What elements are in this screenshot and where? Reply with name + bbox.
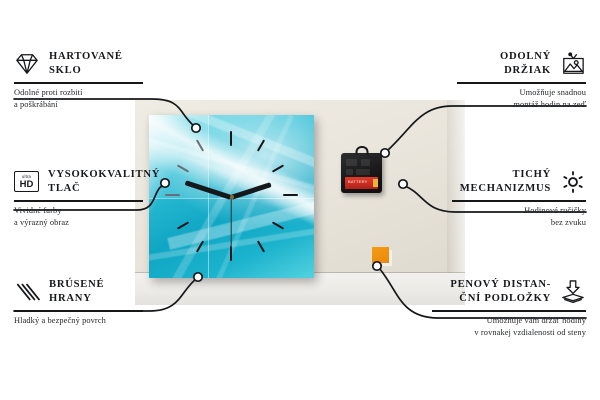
title-line: HRANY xyxy=(49,292,104,306)
feature-rule xyxy=(432,310,586,312)
feature-description: Odolné proti rozbití a poškrábání xyxy=(14,87,159,111)
feature-title: BRÚSENÉ HRANY xyxy=(49,278,104,306)
feature-rule xyxy=(457,82,586,84)
feature-title: TICHÝ MECHANIZMUS xyxy=(460,168,551,196)
diamond-icon xyxy=(14,52,40,76)
feature-ground-edges: BRÚSENÉ HRANY Hladký a bezpečný povrch xyxy=(14,278,164,327)
feature-description: Hladký a bezpečný povrch xyxy=(14,315,164,327)
feature-description: Umožňuje snadnou montáž hodin na zeď xyxy=(441,87,586,111)
feature-silent-mechanism: TICHÝ MECHANIZMUS Hodinové ručičky bez z… xyxy=(436,168,586,229)
desc-line: Vividné farby xyxy=(14,205,164,217)
feature-header: ultra HD VYSOKOKVALITNÝ TLAČ xyxy=(14,168,164,196)
desc-line: a výrazný obraz xyxy=(14,217,164,229)
title-line: SKLO xyxy=(49,64,123,78)
wall-clock xyxy=(149,115,314,278)
title-line: MECHANIZMUS xyxy=(460,182,551,196)
title-line: ODOLNÝ xyxy=(500,50,551,64)
feature-title: VYSOKOKVALITNÝ TLAČ xyxy=(48,168,160,196)
infographic-root: BATTERY xyxy=(0,0,600,400)
ground-edges-icon xyxy=(14,280,40,304)
desc-line: montáž hodin na zeď xyxy=(441,99,586,111)
desc-line: Umožňuje snadnou xyxy=(441,87,586,99)
feature-description: Vividné farby a výrazný obraz xyxy=(14,205,164,229)
title-line: TICHÝ xyxy=(460,168,551,182)
feature-rule xyxy=(14,310,143,312)
title-line: BRÚSENÉ xyxy=(49,278,104,292)
title-line: ČNÍ PODLOŽKY xyxy=(450,292,551,306)
clock-mark-8 xyxy=(177,221,189,229)
feature-header: ODOLNÝ DRŽIAK xyxy=(441,50,586,78)
press-down-icon xyxy=(560,280,586,304)
clock-center-pivot xyxy=(230,195,234,199)
feature-header: PENOVÝ DISTAN- ČNÍ PODLOŽKY xyxy=(416,278,586,306)
gear-icon xyxy=(560,170,586,194)
clock-mechanism: BATTERY xyxy=(341,153,382,193)
feature-high-quality-print: ultra HD VYSOKOKVALITNÝ TLAČ Vividné far… xyxy=(14,168,164,229)
title-line: DRŽIAK xyxy=(500,64,551,78)
ultra-hd-icon: ultra HD xyxy=(14,171,39,192)
desc-line: Umožňuje vám držať hodiny xyxy=(416,315,586,327)
desc-line: Hladký a bezpečný povrch xyxy=(14,315,164,327)
feature-tempered-glass: HARTOVANÉ SKLO Odolné proti rozbití a po… xyxy=(14,50,159,111)
product-scene: BATTERY xyxy=(135,100,465,305)
glass-reflection-line xyxy=(208,115,209,278)
feature-title: PENOVÝ DISTAN- ČNÍ PODLOŽKY xyxy=(450,278,551,306)
picture-hanger-icon xyxy=(560,52,586,76)
feature-rule xyxy=(14,200,143,202)
title-line: TLAČ xyxy=(48,182,160,196)
battery: BATTERY xyxy=(345,177,378,189)
desc-line: Odolné proti rozbití xyxy=(14,87,159,99)
feature-rule xyxy=(452,200,586,202)
feature-header: BRÚSENÉ HRANY xyxy=(14,278,164,306)
second-hand xyxy=(230,197,231,249)
ultra-hd-large-text: HD xyxy=(20,180,34,190)
desc-line: v rovnakej vzdialenosti od steny xyxy=(416,327,586,339)
feature-description: Umožňuje vám držať hodiny v rovnakej vzd… xyxy=(416,315,586,339)
clock-mark-2 xyxy=(272,164,284,172)
feature-rule xyxy=(14,82,143,84)
clock-mark-12 xyxy=(230,131,232,146)
feature-title: HARTOVANÉ SKLO xyxy=(49,50,123,78)
title-line: PENOVÝ DISTAN- xyxy=(450,278,551,292)
mechanism-hanger-hook xyxy=(355,146,368,155)
mechanism-detail xyxy=(346,159,357,166)
foam-distance-pad xyxy=(372,247,389,263)
desc-line: bez zvuku xyxy=(436,217,586,229)
feature-header: HARTOVANÉ SKLO xyxy=(14,50,159,78)
desc-line: Hodinové ručičky xyxy=(436,205,586,217)
mechanism-detail xyxy=(356,169,370,175)
clock-mark-9 xyxy=(165,194,180,196)
feature-durable-hanger: ODOLNÝ DRŽIAK Umožňuje snadnou montáž ho… xyxy=(441,50,586,111)
desc-line: a poškrábání xyxy=(14,99,159,111)
battery-label: BATTERY xyxy=(348,179,367,184)
clock-mark-3 xyxy=(283,194,298,196)
feature-title: ODOLNÝ DRŽIAK xyxy=(500,50,551,78)
feature-description: Hodinové ručičky bez zvuku xyxy=(436,205,586,229)
feature-foam-spacers: PENOVÝ DISTAN- ČNÍ PODLOŽKY Umožňuje vám… xyxy=(416,278,586,339)
feature-header: TICHÝ MECHANIZMUS xyxy=(436,168,586,196)
battery-positive-terminal xyxy=(373,179,378,187)
mechanism-detail xyxy=(361,159,370,166)
title-line: VYSOKOKVALITNÝ xyxy=(48,168,160,182)
mechanism-detail xyxy=(346,169,353,175)
title-line: HARTOVANÉ xyxy=(49,50,123,64)
